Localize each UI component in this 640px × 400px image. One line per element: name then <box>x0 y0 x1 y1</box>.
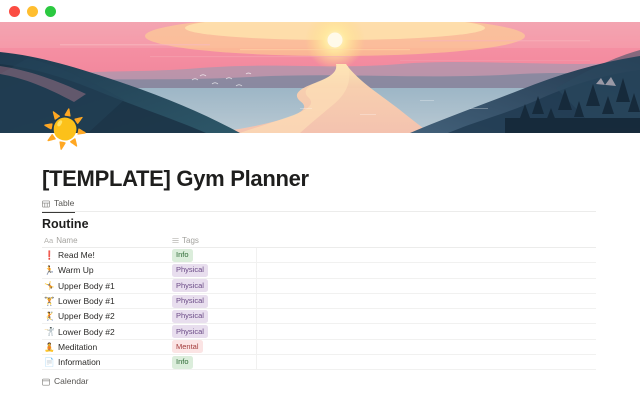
table-row[interactable]: 🧘 Meditation Mental <box>42 340 596 355</box>
row-name-label: Warm Up <box>58 265 94 275</box>
status-badge: Info <box>172 356 193 369</box>
table-header-row: Aa Name Tags <box>42 233 596 248</box>
row-empty-cell[interactable] <box>256 309 596 324</box>
row-empty-cell[interactable] <box>256 339 596 354</box>
cartwheel-emoji: 🤸 <box>44 281 54 290</box>
status-badge: Physical <box>172 295 208 308</box>
close-window-button[interactable] <box>9 6 20 17</box>
tab-table-label: Table <box>54 198 74 208</box>
calendar-icon <box>42 378 50 386</box>
table-row[interactable]: 🏋️ Lower Body #1 Physical <box>42 294 596 309</box>
row-name-cell[interactable]: 🏃 Warm Up <box>42 265 166 275</box>
page-document-emoji: 📄 <box>44 358 54 367</box>
row-name-label: Lower Body #2 <box>58 327 115 337</box>
status-badge: Mental <box>172 340 203 353</box>
row-empty-cell[interactable] <box>256 248 596 263</box>
view-calendar-label: Calendar <box>54 376 89 386</box>
row-name-cell[interactable]: 🧘 Meditation <box>42 342 166 352</box>
row-name-cell[interactable]: 📄 Information <box>42 357 166 367</box>
page-title[interactable]: [TEMPLATE] Gym Planner <box>42 166 309 192</box>
row-tags-cell[interactable]: Physical <box>166 264 256 277</box>
maximize-window-button[interactable] <box>45 6 56 17</box>
status-badge: Physical <box>172 310 208 323</box>
app-window: ☀️ [TEMPLATE] Gym Planner Table Routine <box>0 0 640 400</box>
database-title[interactable]: Routine <box>42 217 89 231</box>
row-name-cell[interactable]: ❗ Read Me! <box>42 250 166 260</box>
row-tags-cell[interactable]: Physical <box>166 279 256 292</box>
exclamation-emoji: ❗ <box>44 251 54 260</box>
page-content: [TEMPLATE] Gym Planner Table Routine Aa <box>0 133 640 400</box>
table-row[interactable]: 🤺 Lower Body #2 Physical <box>42 324 596 339</box>
status-badge: Physical <box>172 264 208 277</box>
row-name-label: Information <box>58 357 101 367</box>
table-row[interactable]: 📄 Information Info <box>42 355 596 370</box>
window-titlebar <box>0 0 640 22</box>
minimize-window-button[interactable] <box>27 6 38 17</box>
row-name-label: Lower Body #1 <box>58 296 115 306</box>
database-view-tabs: Table <box>42 194 596 212</box>
weightlifter-emoji: 🏋️ <box>44 297 54 306</box>
table-row[interactable]: 🤾 Upper Body #2 Physical <box>42 309 596 324</box>
multiselect-property-icon <box>172 237 179 244</box>
runner-emoji: 🏃 <box>44 266 54 275</box>
status-badge: Physical <box>172 325 208 338</box>
table-icon <box>42 200 50 208</box>
row-name-cell[interactable]: 🤾 Upper Body #2 <box>42 311 166 321</box>
table-row[interactable]: 🤸 Upper Body #1 Physical <box>42 279 596 294</box>
table-row[interactable]: 🏃 Warm Up Physical <box>42 263 596 278</box>
column-header-name-label: Name <box>56 236 77 245</box>
status-badge: Physical <box>172 279 208 292</box>
row-name-label: Upper Body #1 <box>58 281 115 291</box>
tab-table[interactable]: Table <box>42 195 75 213</box>
row-tags-cell[interactable]: Physical <box>166 295 256 308</box>
page-icon[interactable]: ☀️ <box>42 108 86 152</box>
row-name-cell[interactable]: 🏋️ Lower Body #1 <box>42 296 166 306</box>
table-row[interactable]: ❗ Read Me! Info <box>42 248 596 263</box>
column-header-blank[interactable] <box>256 233 596 248</box>
row-tags-cell[interactable]: Mental <box>166 340 256 353</box>
column-header-tags-label: Tags <box>182 236 199 245</box>
handball-player-emoji: 🤾 <box>44 312 54 321</box>
row-tags-cell[interactable]: Info <box>166 356 256 369</box>
fencer-emoji: 🤺 <box>44 327 54 336</box>
row-empty-cell[interactable] <box>256 355 596 370</box>
row-empty-cell[interactable] <box>256 324 596 339</box>
row-empty-cell[interactable] <box>256 293 596 308</box>
row-tags-cell[interactable]: Physical <box>166 310 256 323</box>
row-name-label: Read Me! <box>58 250 95 260</box>
status-badge: Info <box>172 249 193 262</box>
row-empty-cell[interactable] <box>256 263 596 278</box>
row-tags-cell[interactable]: Physical <box>166 325 256 338</box>
column-header-tags[interactable]: Tags <box>166 233 256 248</box>
text-property-icon: Aa <box>44 236 53 245</box>
lotus-position-emoji: 🧘 <box>44 343 54 352</box>
page-cover-image[interactable] <box>0 22 640 133</box>
row-tags-cell[interactable]: Info <box>166 249 256 262</box>
row-name-cell[interactable]: 🤸 Upper Body #1 <box>42 281 166 291</box>
row-empty-cell[interactable] <box>256 278 596 293</box>
cover-illustration <box>0 22 640 133</box>
routine-table: Aa Name Tags ❗ Read Me! <box>42 233 596 370</box>
row-name-cell[interactable]: 🤺 Lower Body #2 <box>42 327 166 337</box>
column-header-name[interactable]: Aa Name <box>42 233 166 248</box>
view-calendar[interactable]: Calendar <box>42 376 89 386</box>
row-name-label: Upper Body #2 <box>58 311 115 321</box>
row-name-label: Meditation <box>58 342 97 352</box>
traffic-light-controls <box>9 6 56 17</box>
